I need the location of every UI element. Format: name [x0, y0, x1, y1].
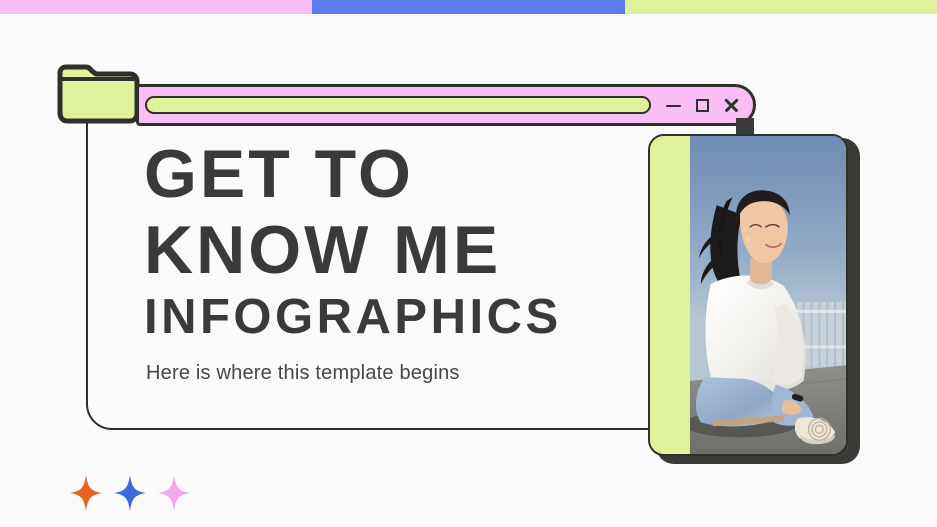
headline-line-2: KNOW ME	[144, 218, 644, 284]
sparkle-decoration-group	[70, 475, 190, 511]
top-color-bar	[0, 0, 937, 14]
photo-accent-strip	[650, 136, 690, 454]
minimize-icon[interactable]	[666, 98, 681, 113]
headline-line-3: INFOGRAPHICS	[144, 294, 644, 342]
maximize-icon[interactable]	[695, 98, 710, 113]
window-controls	[666, 87, 739, 123]
top-bar-segment-blue	[312, 0, 625, 14]
photo-image	[690, 136, 846, 454]
browser-title-bar	[136, 84, 756, 126]
close-icon[interactable]	[724, 98, 739, 113]
sparkle-orange-icon	[70, 475, 102, 511]
folder-icon	[56, 63, 144, 125]
top-bar-segment-pink	[0, 0, 312, 14]
sparkle-pink-icon	[158, 475, 190, 511]
top-bar-segment-green	[625, 0, 937, 14]
subtitle-text: Here is where this template begins	[146, 362, 460, 385]
page-title: GET TO KNOW ME INFOGRAPHICS	[144, 142, 644, 341]
slide-canvas: GET TO KNOW ME INFOGRAPHICS Here is wher…	[0, 0, 937, 527]
sparkle-blue-icon	[114, 475, 146, 511]
address-bar[interactable]	[145, 96, 651, 114]
headline-line-1: GET TO	[144, 142, 644, 208]
photo-card	[648, 134, 860, 464]
photo-card-frame	[648, 134, 848, 456]
